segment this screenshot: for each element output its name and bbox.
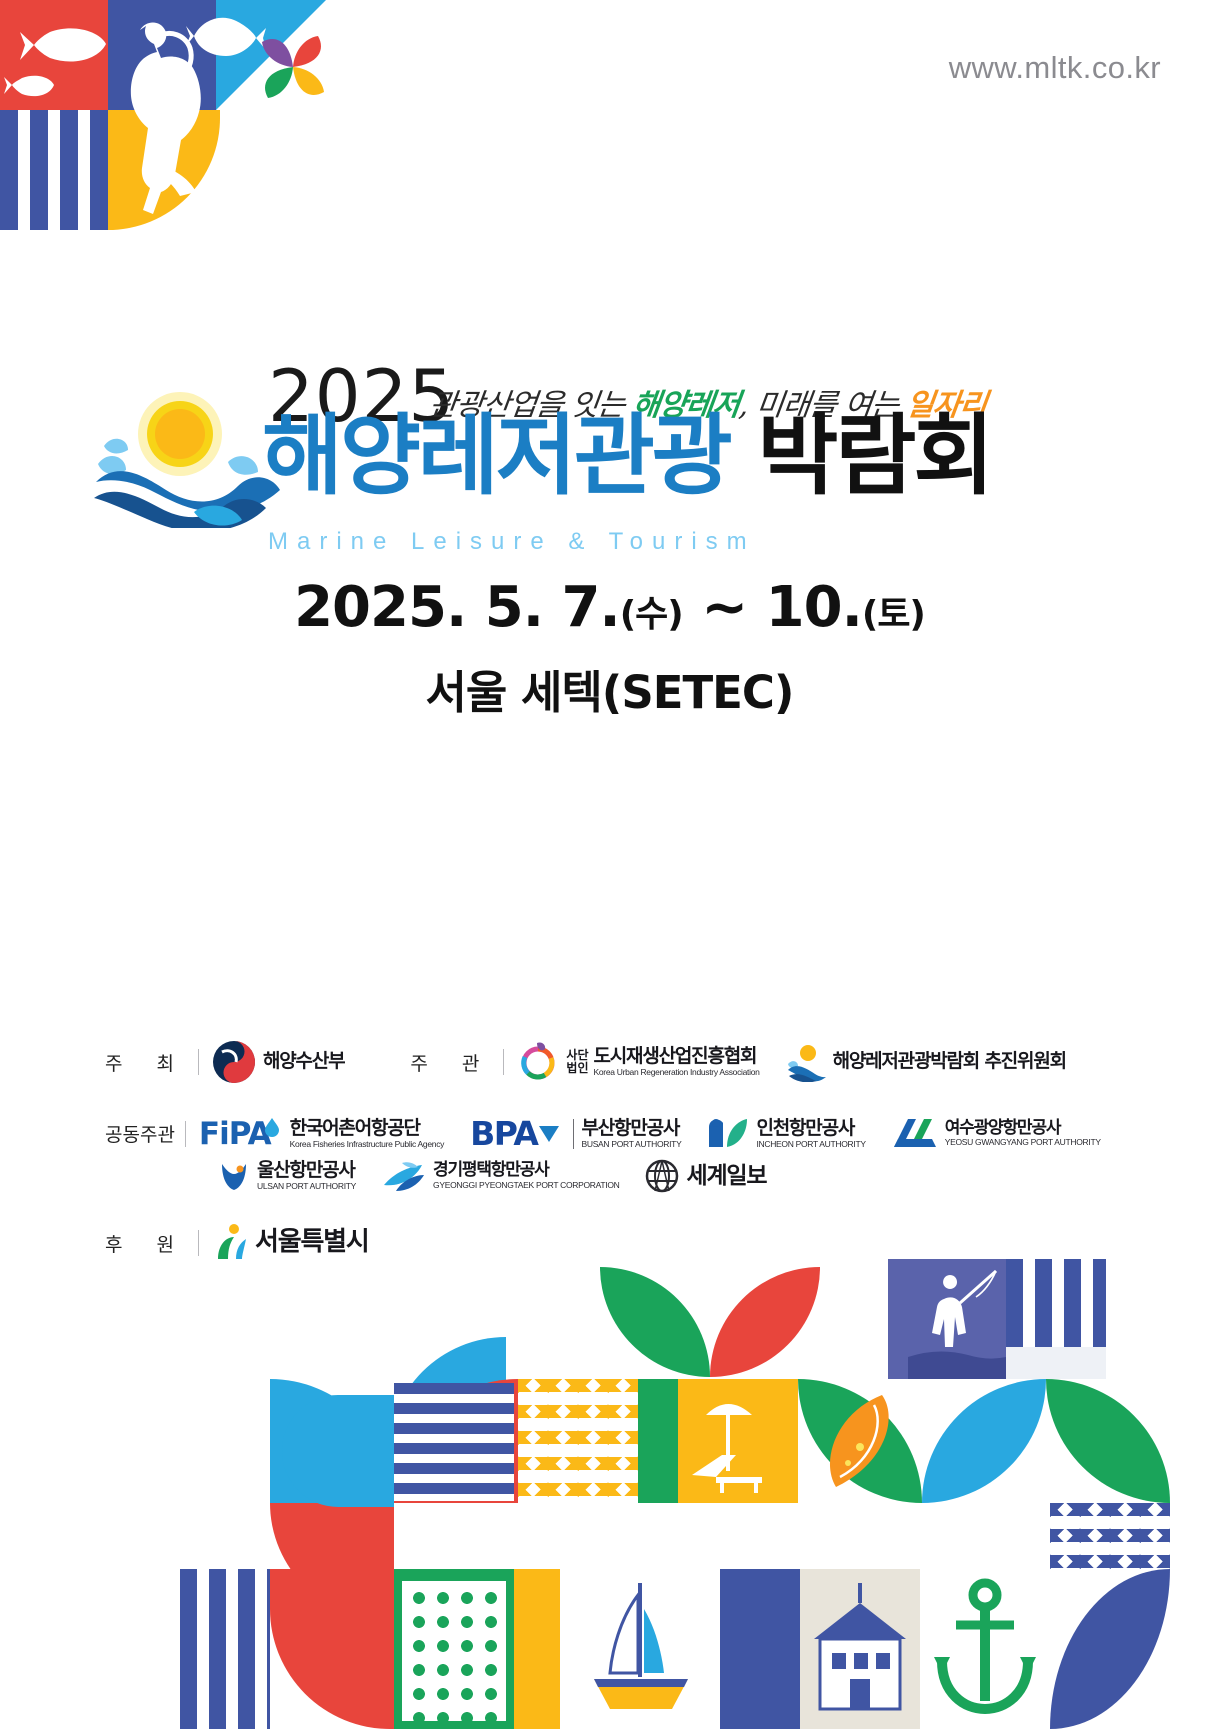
sponsor-item-mof: 해양수산부: [212, 1040, 344, 1084]
decor-panel-lighthouse: [800, 1569, 920, 1729]
sponsor-text: 여수광양항만공사 YEOSU GWANGYANG PORT AUTHORITY: [945, 1120, 1101, 1148]
sponsor-text: 서울특별시: [255, 1229, 369, 1256]
sponsor-item-bpa: BPA 부산항만공사 BUSAN PORT AUTHORITY: [470, 1114, 681, 1153]
sponsor-label-host: 주 최: [105, 1049, 188, 1076]
sponsor-text: 한국어촌어항공단 Korea Fisheries Infrastructure …: [290, 1119, 445, 1149]
sponsor-name-en: GYEONGGI PYEONGTAEK PORT CORPORATION: [433, 1181, 619, 1190]
sponsor-name-ko: 도시재생산업진흥협회: [594, 1047, 760, 1067]
sponsor-name-en: Korea Urban Regeneration Industry Associ…: [594, 1068, 760, 1077]
decor-zigzag-navy: [1050, 1503, 1170, 1569]
decor-panel-beach: [678, 1379, 798, 1503]
decor-quarter-red-3: [270, 1569, 394, 1729]
sponsor-text: 도시재생산업진흥협회 Korea Urban Regeneration Indu…: [594, 1047, 760, 1077]
sponsor-name-ko: 해양레저관광박람회 추진위원회: [833, 1052, 1066, 1072]
hero-title-block: 2025 관광산업을 잇는 해양레저, 미래를 여는 일자리 해양레저관광 박람…: [0, 360, 1219, 550]
event-date: 2025. 5. 7.(수) ~ 10.(토): [0, 575, 1219, 640]
kuria-mark-icon: [517, 1041, 559, 1083]
decor-leaf-cyan: [922, 1379, 1046, 1503]
decor-block-lightgray: [1006, 1347, 1106, 1379]
decor-surfboard: [812, 1391, 908, 1491]
fisherman-icon: [888, 1259, 1006, 1379]
sponsor-item-upa: 울산항만공사 ULSAN PORT AUTHORITY: [218, 1160, 356, 1192]
sponsor-label-supporter: 후 원: [105, 1230, 188, 1257]
fipa-droplet-icon: [265, 1118, 279, 1138]
sponsor-name-ko: 해양수산부: [263, 1052, 344, 1072]
segye-globe-icon: [645, 1159, 679, 1193]
top-decor-mosaic: [0, 0, 350, 230]
mltk-wave-mark-icon: [786, 1042, 826, 1082]
fipa-wordmark: FiPA: [199, 1116, 271, 1152]
sponsor-text: 울산항만공사 ULSAN PORT AUTHORITY: [257, 1161, 356, 1191]
sponsor-row-host-organizer: 주 최 해양수산부 주 관 사단법인: [0, 1040, 1219, 1084]
sponsor-name-ko: 부산항만공사: [581, 1119, 681, 1139]
sponsor-name-en: INCHEON PORT AUTHORITY: [756, 1140, 865, 1149]
decor-leaf-red: [710, 1267, 820, 1377]
ygpa-mark-icon: [892, 1117, 938, 1151]
sailboat-icon: [560, 1569, 720, 1729]
sponsor-name-ko: 경기평택항만공사: [433, 1162, 619, 1180]
sponsor-name-ko: 인천항만공사: [756, 1119, 865, 1139]
date-range-mark: ~: [683, 575, 766, 640]
decor-leaf-green: [600, 1267, 710, 1377]
sponsor-name-ko: 세계일보: [686, 1164, 766, 1188]
decor-halfcircle-cyan: [282, 1395, 394, 1507]
divider: [503, 1049, 504, 1075]
decor-stripes-navy-2: [180, 1569, 270, 1729]
decor-leaf-navy: [1050, 1569, 1170, 1729]
main-title-black: 박람회: [757, 404, 991, 507]
sponsor-row-supporter: 후 원 서울특별시: [0, 1223, 1219, 1263]
decor-panel-fisherman: [888, 1259, 1006, 1379]
sun-wave-logo-icon: [88, 388, 288, 528]
decor-leaf-green-3: [1046, 1379, 1170, 1503]
sponsor-name-en: Korea Fisheries Infrastructure Public Ag…: [290, 1140, 445, 1149]
sponsor-row-coorganizer-1: 공동주관 FiPA 한국어촌어항공단 Korea Fisheries Infra…: [0, 1114, 1219, 1153]
sponsor-item-mltk-committee: 해양레저관광박람회 추진위원회: [786, 1042, 1066, 1082]
decor-stripes-vertical: [0, 110, 108, 230]
bpa-wordmark: BPA: [470, 1114, 537, 1153]
sponsor-text: 부산항만공사 BUSAN PORT AUTHORITY: [581, 1119, 681, 1149]
date-end: 10.: [766, 575, 862, 640]
scuba-diver-icon: [100, 8, 230, 218]
seaside-building-icon: [800, 1569, 920, 1729]
ipa-mark-icon: [707, 1117, 749, 1151]
fish-icon-small: [4, 72, 56, 100]
surfboard-icon: [812, 1391, 908, 1491]
anchor-icon: [920, 1569, 1050, 1729]
decor-stripes-horizontal-navy: [394, 1383, 514, 1501]
sponsor-name-en: ULSAN PORT AUTHORITY: [257, 1182, 356, 1191]
sponsor-item-kuria: 사단법인 도시재생산업진흥협회 Korea Urban Regeneration…: [517, 1041, 759, 1083]
bottom-decor-mosaic: [0, 1259, 1219, 1729]
date-end-dow: (토): [862, 594, 925, 635]
main-title-blue: 해양레저관광: [262, 404, 730, 507]
main-title: 해양레저관광 박람회: [262, 410, 991, 502]
decor-panel-sailboat: [560, 1569, 720, 1729]
seoul-city-mark-icon: [212, 1223, 248, 1263]
sponsor-name-en: YEOSU GWANGYANG PORT AUTHORITY: [945, 1138, 1101, 1147]
decor-stripes-navy: [1006, 1259, 1106, 1347]
sponsor-name-en: BUSAN PORT AUTHORITY: [581, 1140, 681, 1149]
divider: [198, 1230, 199, 1256]
sponsor-item-fipa: FiPA 한국어촌어항공단 Korea Fisheries Infrastruc…: [199, 1116, 444, 1152]
decor-dots-green: [402, 1581, 506, 1721]
sponsor-item-gppc: 경기평택항만공사 GYEONGGI PYEONGTAEK PORT CORPOR…: [382, 1159, 619, 1193]
sponsor-text: 해양레저관광박람회 추진위원회: [833, 1052, 1066, 1072]
sponsor-text: 세계일보: [686, 1164, 766, 1188]
sponsor-name-ko: 울산항만공사: [257, 1161, 356, 1181]
sponsor-prefix-kuria: 사단법인: [566, 1049, 588, 1076]
date-start: 2025. 5. 7.: [294, 575, 620, 640]
beach-umbrella-chair-icon: [678, 1379, 798, 1503]
sponsor-item-segye: 세계일보: [645, 1159, 766, 1193]
sponsor-text: 경기평택항만공사 GYEONGGI PYEONGTAEK PORT CORPOR…: [433, 1162, 619, 1190]
english-subtitle: Marine Leisure & Tourism: [268, 528, 756, 556]
taegeuk-mark-icon: [212, 1040, 256, 1084]
divider: [573, 1119, 574, 1149]
upa-mark-icon: [218, 1160, 250, 1192]
sponsor-text: 인천항만공사 INCHEON PORT AUTHORITY: [756, 1119, 865, 1149]
sponsor-label-organizer: 주 관: [410, 1049, 493, 1076]
sponsor-block: 주 최 해양수산부 주 관 사단법인: [0, 1040, 1219, 1269]
event-venue: 서울 세텍(SETEC): [0, 656, 1219, 721]
fish-icon: [20, 22, 110, 70]
date-start-dow: (수): [620, 594, 683, 635]
sponsor-name-ko: 한국어촌어항공단: [290, 1119, 445, 1139]
divider: [198, 1049, 199, 1075]
decor-panel-anchor: [920, 1569, 1050, 1729]
bpa-triangle-icon: [539, 1124, 559, 1144]
sponsor-name-ko: 서울특별시: [255, 1229, 369, 1256]
decor-zigzag-yellow: [518, 1379, 638, 1503]
sponsor-label-coorganizer: 공동주관: [105, 1120, 175, 1147]
divider: [185, 1121, 186, 1147]
pinwheel-logo-icon: [248, 22, 338, 112]
decor-block-navy: [720, 1569, 800, 1729]
gppc-mark-icon: [382, 1159, 426, 1193]
date-venue-block: 2025. 5. 7.(수) ~ 10.(토) 서울 세텍(SETEC): [0, 575, 1219, 721]
sponsor-item-seoul: 서울특별시: [212, 1223, 369, 1263]
sponsor-text: 해양수산부: [263, 1052, 344, 1072]
sponsor-item-ygpa: 여수광양항만공사 YEOSU GWANGYANG PORT AUTHORITY: [892, 1117, 1101, 1151]
sponsor-row-coorganizer-2: 울산항만공사 ULSAN PORT AUTHORITY 경기평택항만공사 GYE…: [0, 1159, 1219, 1193]
website-url: www.mltk.co.kr: [949, 50, 1161, 86]
sponsor-name-ko: 여수광양항만공사: [945, 1120, 1101, 1138]
sponsor-item-ipa: 인천항만공사 INCHEON PORT AUTHORITY: [707, 1117, 865, 1151]
